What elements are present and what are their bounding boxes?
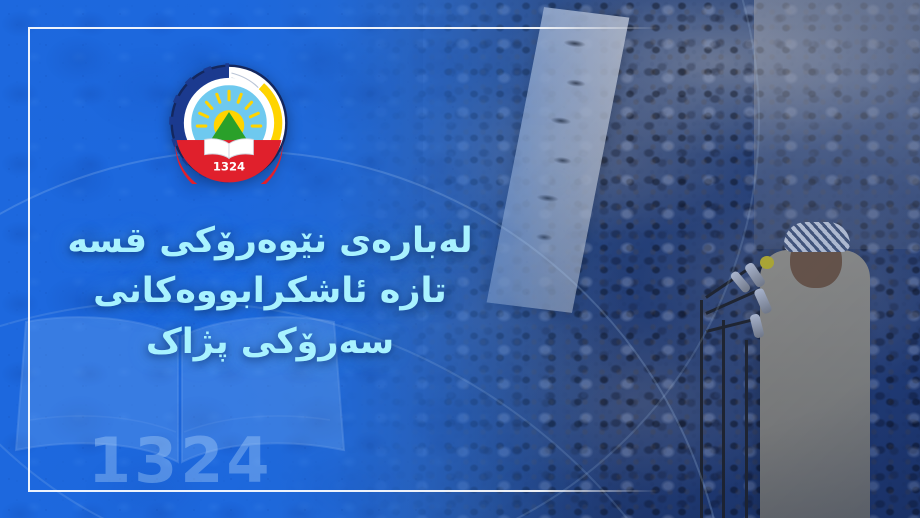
emblem-year-label: 1324 <box>213 160 245 174</box>
year-watermark: 1324 <box>88 430 273 492</box>
frame-top-fade <box>540 27 660 29</box>
frame-bottom-fade <box>540 490 660 492</box>
headline-line-3: سەرۆکی پژاک <box>30 317 510 367</box>
headline-line-2: تازە ئاشکرابووەکانی <box>30 266 510 316</box>
pjak-emblem: 1324 <box>168 62 290 184</box>
page-title: لەبارەی نێوەرۆکی قسە تازە ئاشکرابووەکانی… <box>30 216 510 367</box>
poster-canvas: 1324 <box>0 0 920 518</box>
headline-line-1: لەبارەی نێوەرۆکی قسە <box>30 216 510 266</box>
